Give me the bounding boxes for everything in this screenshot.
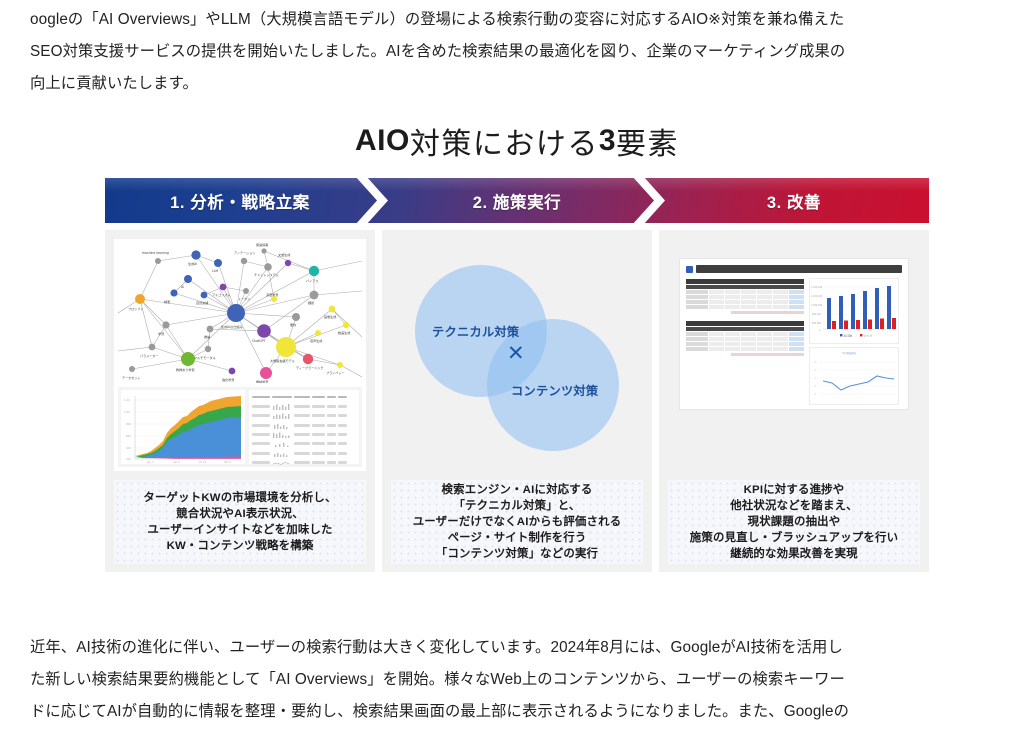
kpi-line-chart: 平均掲載順位 54 321 xyxy=(810,348,898,404)
aio-infographic: AIO対策における3要素 1. 分析・戦略立案 2. 施策実行 3. 改善 xyxy=(105,112,929,572)
table-row xyxy=(252,421,356,429)
svg-text:Oct 8: Oct 8 xyxy=(224,460,231,464)
table-row xyxy=(252,440,356,448)
caption-line: KW・コンテンツ戦略を構築 xyxy=(167,539,314,554)
svg-text:自然言語: 自然言語 xyxy=(196,300,208,305)
table-note xyxy=(731,353,804,356)
venn-intersection-cross-icon: ✕ xyxy=(507,343,525,364)
panel-execution: テクニカル対策 コンテンツ対策 ✕ 検索エンジン・AIに対応する 「テクニカル対… xyxy=(382,230,652,572)
svg-text:クリック: クリック xyxy=(864,333,873,337)
venn-label-technical: テクニカル対策 xyxy=(432,322,519,340)
panel-improvement-visual: 1,400,0001,200,000 1,000,000800,000 600,… xyxy=(668,239,920,471)
table-header-row xyxy=(686,327,804,331)
panel-analysis-caption: ターゲットKWの市場環境を分析し、 競合状況やAI表示状況、 ユーザーインサイト… xyxy=(114,480,366,564)
svg-text:Jan 3: Jan 3 xyxy=(146,460,154,464)
keyword-data-table xyxy=(249,390,359,464)
venn-diagram: テクニカル対策 コンテンツ対策 ✕ xyxy=(391,239,643,471)
figure-title: AIO対策における3要素 xyxy=(105,112,929,170)
table-note xyxy=(731,311,804,314)
dashboard-body: 1,400,0001,200,000 1,000,000800,000 600,… xyxy=(686,279,902,409)
svg-text:推論: 推論 xyxy=(204,334,210,339)
svg-text:1.0K: 1.0K xyxy=(124,410,130,414)
step-label-3: 3. 改善 xyxy=(659,178,929,223)
report-icon xyxy=(686,266,693,273)
svg-text:学習: 学習 xyxy=(158,331,164,336)
article-paragraph-bottom: 近年、AI技術の進化に伴い、ユーザーの検索行動は大きく変化しています。2024年… xyxy=(30,632,998,728)
caption-line: 競合状況やAI表示状況、 xyxy=(176,507,304,522)
svg-text:機械学習: 機械学習 xyxy=(256,379,268,383)
analysis-charts: 1.2K1.0K 800600 400200 Jan 3Apr 6 Jul 10… xyxy=(118,387,362,467)
svg-text:machine learning: machine learning xyxy=(142,251,169,255)
svg-text:平均掲載順位: 平均掲載順位 xyxy=(842,351,857,355)
table-row xyxy=(686,305,804,309)
table-title-bar xyxy=(686,321,804,326)
svg-text:800: 800 xyxy=(126,422,131,426)
caption-line: 「コンテンツ対策」などの実行 xyxy=(436,547,598,562)
svg-text:トークン: トークン xyxy=(238,296,250,301)
svg-text:文章生成: 文章生成 xyxy=(278,252,290,257)
svg-text:400: 400 xyxy=(126,446,131,450)
figure-title-prefix: AIO xyxy=(355,124,410,158)
process-step-banner: 1. 分析・戦略立案 2. 施策実行 3. 改善 xyxy=(105,178,929,223)
svg-text:データセット: データセット xyxy=(122,375,141,380)
svg-text:画像生成: 画像生成 xyxy=(324,314,336,319)
dashboard-header xyxy=(686,265,902,273)
svg-text:Apr 6: Apr 6 xyxy=(173,460,180,464)
svg-text:翻訳: 翻訳 xyxy=(308,300,315,305)
svg-text:1,200,000: 1,200,000 xyxy=(811,295,823,298)
caption-line: 他社状況などを踏まえ、 xyxy=(730,499,858,514)
svg-text:800,000: 800,000 xyxy=(812,313,822,316)
panel-execution-visual: テクニカル対策 コンテンツ対策 ✕ xyxy=(391,239,643,471)
dashboard-charts: 1,400,0001,200,000 1,000,000800,000 600,… xyxy=(810,279,898,409)
svg-text:600,000: 600,000 xyxy=(812,322,822,325)
svg-text:アノテーション: アノテーション xyxy=(234,250,255,255)
kpi-bar-chart: 1,400,0001,200,000 1,000,000800,000 600,… xyxy=(810,279,898,343)
table-row xyxy=(252,412,356,420)
kpi-dashboard-report: 1,400,0001,200,000 1,000,000800,000 600,… xyxy=(680,259,908,409)
caption-line: 施策の見直し・ブラッシュアップを行い xyxy=(690,531,898,546)
svg-text:深層学習: 深層学習 xyxy=(266,292,278,297)
svg-text:1,000,000: 1,000,000 xyxy=(811,304,823,307)
caption-line: 現状課題の抽出や xyxy=(748,515,841,530)
figure-title-suffix: 要素 xyxy=(616,119,679,163)
table-row xyxy=(252,449,356,457)
step-label-1: 1. 分析・戦略立案 xyxy=(105,178,375,223)
step-label-2: 2. 施策実行 xyxy=(382,178,652,223)
table-row xyxy=(686,337,804,341)
svg-text:600: 600 xyxy=(126,434,131,438)
kpi-table-traffic xyxy=(686,279,804,314)
figure-title-middle: 対策における xyxy=(410,119,599,163)
panel-analysis: machine learning 生成AI LLM AI 検索 自然言語 プロン… xyxy=(105,230,375,572)
svg-text:アルゴリズム: アルゴリズム xyxy=(212,292,230,297)
svg-text:Jul 10: Jul 10 xyxy=(198,460,207,464)
table-row xyxy=(686,290,804,294)
network-graph-chart: machine learning 生成AI LLM AI 検索 自然言語 プロン… xyxy=(118,241,362,383)
svg-text:大規模言語モデル: 大規模言語モデル xyxy=(270,358,295,363)
table-row xyxy=(686,347,804,351)
svg-text:1.2K: 1.2K xyxy=(124,398,130,402)
table-title-bar xyxy=(686,279,804,284)
svg-text:検索: 検索 xyxy=(164,299,170,304)
svg-text:プライバシー: プライバシー xyxy=(326,370,345,375)
svg-text:200: 200 xyxy=(126,457,131,461)
svg-text:プロンプト: プロンプト xyxy=(128,306,143,311)
caption-line: ターゲットKWの市場環境を分析し、 xyxy=(143,491,336,506)
table-row xyxy=(252,402,356,410)
table-row xyxy=(252,459,356,467)
caption-line: KPIに対する進捗や xyxy=(744,483,845,498)
svg-text:強化学習: 強化学習 xyxy=(222,377,234,382)
svg-text:1,400,000: 1,400,000 xyxy=(811,286,823,289)
table-row xyxy=(686,332,804,336)
caption-line: ユーザーインサイトなどを加味した xyxy=(147,523,332,538)
stacked-area-chart: 1.2K1.0K 800600 400200 Jan 3Apr 6 Jul 10… xyxy=(121,390,245,464)
figure-title-number: 3 xyxy=(599,124,616,158)
svg-text:動画生成: 動画生成 xyxy=(338,330,350,335)
svg-text:パラメーター: パラメーター xyxy=(140,353,158,358)
panel-execution-caption: 検索エンジン・AIに対応する 「テクニカル対策」と、 ユーザーだけでなくAIから… xyxy=(391,480,643,564)
table-row xyxy=(686,300,804,304)
kpi-table-conversion xyxy=(686,321,804,356)
article-paragraph-top: oogleの「AI Overviews」やLLM（大規模言語モデル）の登場による… xyxy=(30,4,998,100)
venn-label-content: コンテンツ対策 xyxy=(511,381,598,399)
svg-text:LLM: LLM xyxy=(212,269,218,273)
svg-text:チャットシステム: チャットシステム xyxy=(254,272,279,277)
caption-line: ページ・サイト制作を行う xyxy=(448,531,587,546)
svg-text:ChatGPT: ChatGPT xyxy=(252,339,265,343)
svg-text:表示回数: 表示回数 xyxy=(844,333,854,337)
svg-text:要約: 要約 xyxy=(290,322,296,327)
svg-text:生成AIの仕組み: 生成AIの仕組み xyxy=(221,324,243,329)
svg-text:関連情報: 関連情報 xyxy=(256,242,268,247)
panel-improvement: 1,400,0001,200,000 1,000,000800,000 600,… xyxy=(659,230,929,572)
panel-analysis-visual: machine learning 生成AI LLM AI 検索 自然言語 プロン… xyxy=(114,239,366,471)
table-row xyxy=(686,295,804,299)
caption-line: ユーザーだけでなくAIからも評価される xyxy=(413,515,622,530)
table-row xyxy=(686,342,804,346)
panel-improvement-caption: KPIに対する進捗や 他社状況などを踏まえ、 現状課題の抽出や 施策の見直し・ブ… xyxy=(668,480,920,564)
svg-text:バイアス: バイアス xyxy=(306,278,318,283)
caption-line: 検索エンジン・AIに対応する xyxy=(442,483,593,498)
svg-text:マルチモーダル: マルチモーダル xyxy=(194,355,216,360)
caption-line: 継続的な効果改善を実現 xyxy=(730,547,858,562)
table-row xyxy=(252,431,356,439)
dashboard-title-bar xyxy=(696,265,902,273)
dashboard-tables xyxy=(686,279,804,409)
svg-text:教師あり学習: 教師あり学習 xyxy=(176,367,195,372)
caption-line: 「テクニカル対策」と、 xyxy=(453,499,580,514)
table-header-row xyxy=(686,285,804,289)
svg-text:音声生成: 音声生成 xyxy=(310,338,322,343)
svg-text:生成AI: 生成AI xyxy=(188,261,197,266)
svg-text:AI: AI xyxy=(181,285,184,289)
svg-text:ディープラーニング: ディープラーニング xyxy=(296,365,323,370)
table-header-row xyxy=(252,393,356,401)
